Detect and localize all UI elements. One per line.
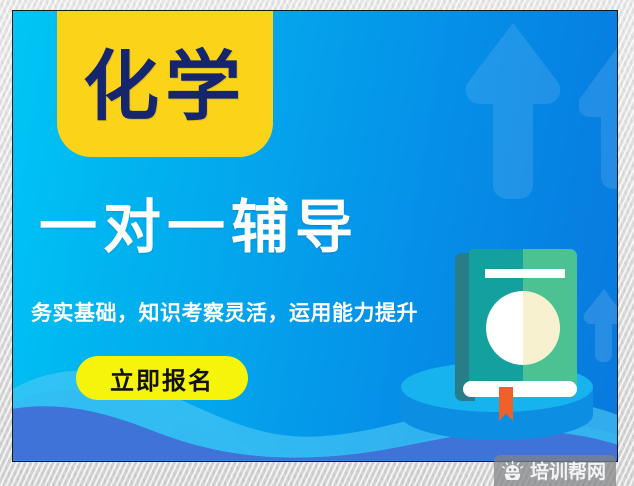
banner-subheadline: 务实基础，知识考察灵活，运用能力提升 (31, 297, 418, 327)
subject-badge: 化学 (57, 11, 273, 157)
watermark: 培训帮网 (494, 455, 616, 486)
book-pages (463, 381, 577, 397)
subject-badge-label: 化学 (83, 43, 247, 125)
book-title-band (485, 269, 565, 278)
watermark-label: 培训帮网 (530, 457, 606, 484)
banner-headline: 一对一辅导 (39, 197, 359, 258)
page-background: 化学 一对一辅导 务实基础，知识考察灵活，运用能力提升 立即报名 (0, 0, 634, 486)
book-shape (455, 249, 577, 407)
promo-banner-card: 化学 一对一辅导 务实基础，知识考察灵活，运用能力提升 立即报名 (12, 10, 618, 462)
up-arrow-icon-edge (579, 41, 618, 191)
book-illustration (399, 249, 609, 449)
smiley-sun-icon (502, 461, 523, 480)
up-arrow-icon-large (461, 19, 565, 201)
enroll-now-button[interactable]: 立即报名 (76, 356, 248, 400)
enroll-now-button-label: 立即报名 (110, 361, 214, 396)
